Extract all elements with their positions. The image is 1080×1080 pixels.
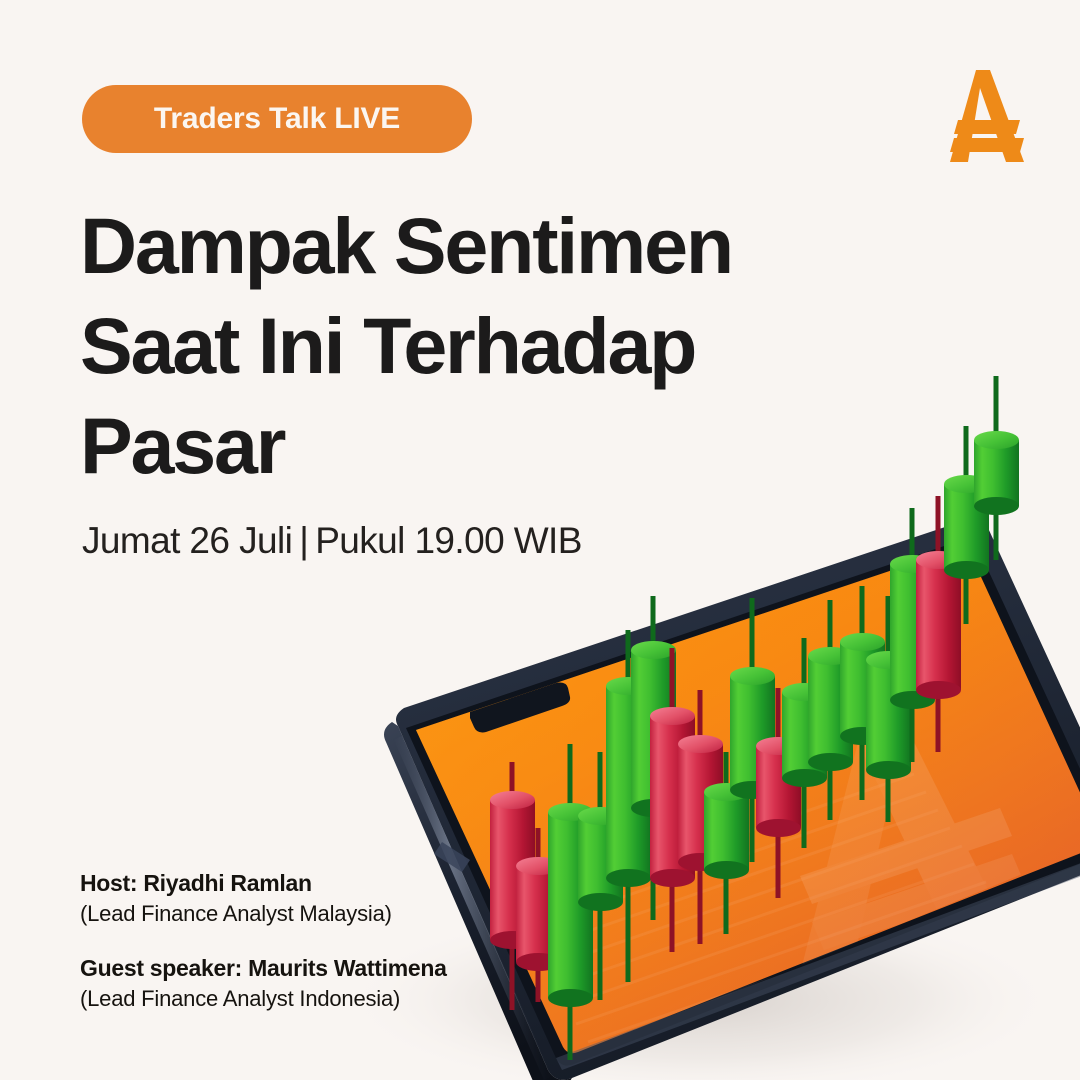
schedule-line: Jumat 26 Juli|Pukul 19.00 WIB	[82, 518, 582, 564]
schedule-time: Pukul 19.00 WIB	[315, 520, 582, 561]
credits-block: Host: Riyadhi Ramlan (Lead Finance Analy…	[80, 868, 600, 1038]
headline-line-2: Saat Ini Terhadap	[80, 296, 840, 396]
guest-name: Guest speaker: Maurits Wattimena	[80, 953, 600, 984]
badge-label: Traders Talk LIVE	[154, 102, 400, 136]
brand-a-logo-icon	[928, 62, 1032, 168]
schedule-date: Jumat 26 Juli	[82, 520, 292, 561]
traders-talk-live-badge: Traders Talk LIVE	[82, 85, 472, 153]
schedule-separator: |	[292, 520, 315, 561]
headline-line-3: Pasar	[80, 396, 840, 496]
host-role: (Lead Finance Analyst Malaysia)	[80, 899, 600, 929]
headline-line-1: Dampak Sentimen	[80, 196, 840, 296]
guest-credit: Guest speaker: Maurits Wattimena (Lead F…	[80, 953, 600, 1014]
page-title: Dampak Sentimen Saat Ini Terhadap Pasar	[80, 196, 840, 496]
host-credit: Host: Riyadhi Ramlan (Lead Finance Analy…	[80, 868, 600, 929]
poster-canvas: Traders Talk LIVE Dampak Sentimen Saat I…	[0, 0, 1080, 1080]
host-name: Host: Riyadhi Ramlan	[80, 868, 600, 899]
guest-role: (Lead Finance Analyst Indonesia)	[80, 984, 600, 1014]
